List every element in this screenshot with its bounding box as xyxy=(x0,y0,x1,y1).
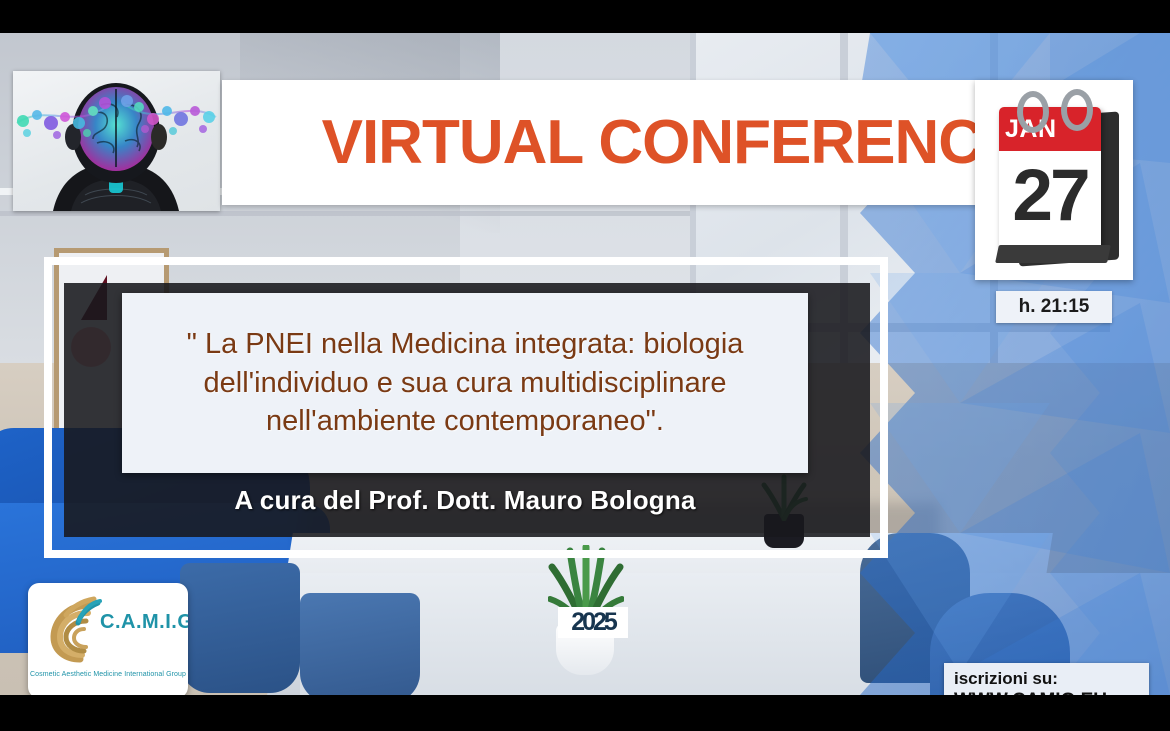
calendar-ring-icon xyxy=(1061,89,1093,131)
office-chair xyxy=(300,593,420,695)
calendar-body: JAN 27 xyxy=(999,107,1101,253)
office-chair xyxy=(180,563,300,693)
registration-box[interactable]: iscrizioni su: WWW.CAMIG.EU xyxy=(944,663,1149,695)
time-badge: h. 21:15 xyxy=(996,291,1112,323)
brain-network-icon xyxy=(13,71,220,211)
camig-logo-card: C.A.M.I.G. Cosmetic Aesthetic Medicine I… xyxy=(28,583,188,695)
letterbox-top xyxy=(0,0,1170,33)
calendar-ring-icon xyxy=(1017,91,1049,133)
calendar-base xyxy=(995,245,1111,263)
speaker-name: A cura del Prof. Dott. Mauro Bologna xyxy=(122,480,808,520)
calendar-card: JAN 27 xyxy=(975,80,1133,280)
conference-flyer: VIRTUAL CONFERENCE JAN 27 h. 21:15 xyxy=(0,0,1170,731)
talk-title: " La PNEI nella Medicina integrata: biol… xyxy=(122,325,808,441)
letterbox-bottom xyxy=(0,695,1170,731)
registration-label: iscrizioni su: xyxy=(954,668,1139,689)
calendar-day: 27 xyxy=(999,145,1101,245)
brain-image-card xyxy=(13,71,220,211)
logo-tagline: Cosmetic Aesthetic Medicine Internationa… xyxy=(28,671,188,678)
logo-name: C.A.M.I.G. xyxy=(100,611,188,634)
year-badge: 2025 xyxy=(558,607,628,638)
flyer-stage: VIRTUAL CONFERENCE JAN 27 h. 21:15 xyxy=(0,33,1170,695)
calendar-icon: JAN 27 xyxy=(991,93,1119,265)
talk-title-panel: " La PNEI nella Medicina integrata: biol… xyxy=(122,293,808,473)
